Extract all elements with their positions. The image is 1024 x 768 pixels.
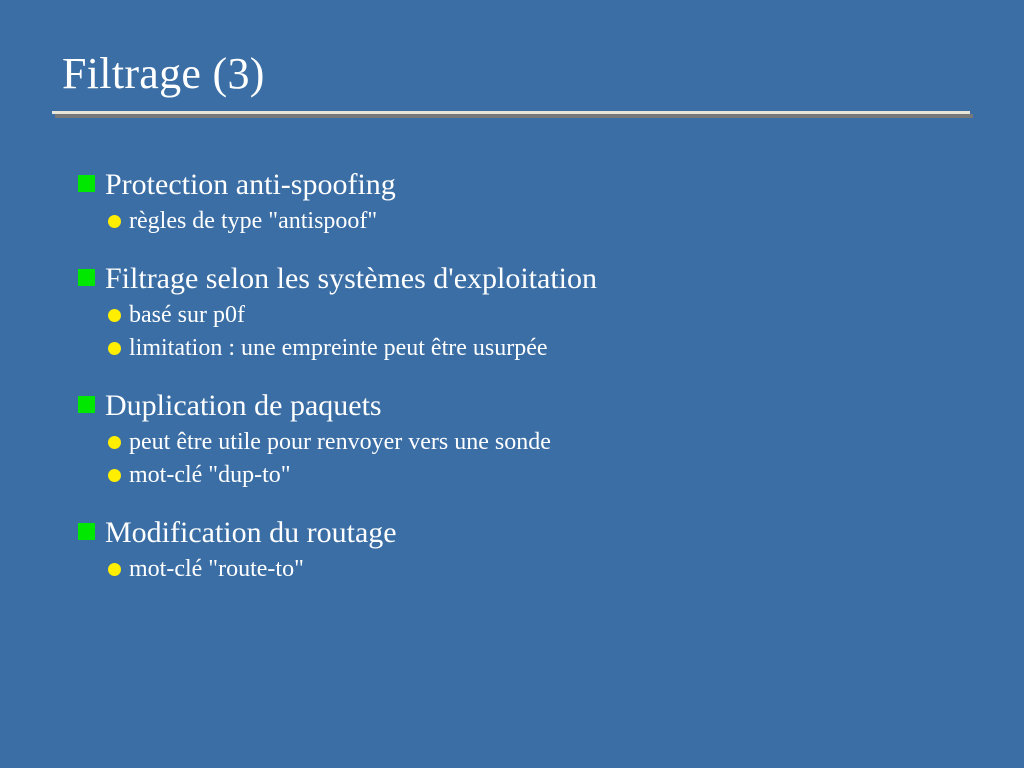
- yellow-circle-bullet-icon: [108, 469, 121, 482]
- green-square-bullet-icon: [78, 523, 95, 540]
- bullet-level2: mot-clé "route-to": [108, 553, 998, 586]
- bullet-level1: Filtrage selon les systèmes d'exploitati…: [78, 260, 998, 297]
- bullet-level1-label: Modification du routage: [105, 514, 397, 551]
- presentation-slide: Filtrage (3) Protection anti-spoofing rè…: [0, 0, 1024, 768]
- bullet-level2-label: limitation : une empreinte peut être usu…: [129, 332, 548, 365]
- bullet-level2-label: règles de type "antispoof": [129, 205, 377, 238]
- bullet-level2: limitation : une empreinte peut être usu…: [108, 332, 998, 365]
- yellow-circle-bullet-icon: [108, 215, 121, 228]
- slide-body: Protection anti-spoofing règles de type …: [78, 166, 998, 586]
- bullet-level2-label: basé sur p0f: [129, 299, 245, 332]
- bullet-level1: Duplication de paquets: [78, 387, 998, 424]
- title-divider-shadow: [55, 114, 973, 118]
- bullet-level2: mot-clé "dup-to": [108, 459, 998, 492]
- green-square-bullet-icon: [78, 269, 95, 286]
- bullet-level1-label: Filtrage selon les systèmes d'exploitati…: [105, 260, 597, 297]
- yellow-circle-bullet-icon: [108, 309, 121, 322]
- bullet-group: Duplication de paquets peut être utile p…: [78, 387, 998, 492]
- bullet-level1: Protection anti-spoofing: [78, 166, 998, 203]
- bullet-group: Modification du routage mot-clé "route-t…: [78, 514, 998, 586]
- bullet-group: Protection anti-spoofing règles de type …: [78, 166, 998, 238]
- bullet-level2: règles de type "antispoof": [108, 205, 998, 238]
- bullet-level2-label: peut être utile pour renvoyer vers une s…: [129, 426, 551, 459]
- bullet-level1: Modification du routage: [78, 514, 998, 551]
- title-block: Filtrage (3): [62, 48, 972, 100]
- green-square-bullet-icon: [78, 175, 95, 192]
- yellow-circle-bullet-icon: [108, 342, 121, 355]
- yellow-circle-bullet-icon: [108, 436, 121, 449]
- page-title: Filtrage (3): [62, 48, 972, 100]
- bullet-level2: peut être utile pour renvoyer vers une s…: [108, 426, 998, 459]
- bullet-level1-label: Protection anti-spoofing: [105, 166, 396, 203]
- bullet-level2: basé sur p0f: [108, 299, 998, 332]
- bullet-level2-label: mot-clé "route-to": [129, 553, 304, 586]
- green-square-bullet-icon: [78, 396, 95, 413]
- bullet-level2-label: mot-clé "dup-to": [129, 459, 291, 492]
- bullet-level1-label: Duplication de paquets: [105, 387, 382, 424]
- yellow-circle-bullet-icon: [108, 563, 121, 576]
- bullet-group: Filtrage selon les systèmes d'exploitati…: [78, 260, 998, 365]
